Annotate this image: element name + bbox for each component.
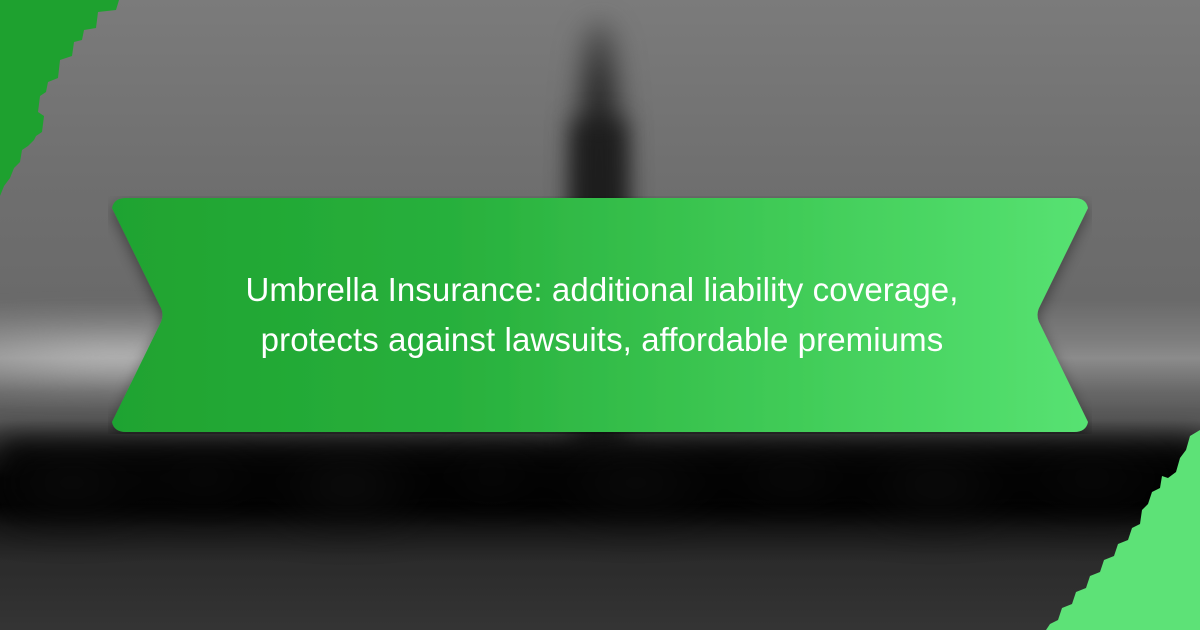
banner-card: Umbrella Insurance: additional liability… (0, 0, 1200, 630)
ribbon-headline-line-1: Umbrella Insurance: additional liability… (245, 265, 958, 315)
torn-edge-accent-top-left (0, 0, 150, 200)
ribbon-text-block: Umbrella Insurance: additional liability… (165, 196, 1039, 434)
background-treeline (0, 440, 1200, 535)
ribbon-headline-line-2: protects against lawsuits, affordable pr… (261, 315, 944, 365)
torn-edge-accent-bottom-right (1040, 430, 1200, 630)
